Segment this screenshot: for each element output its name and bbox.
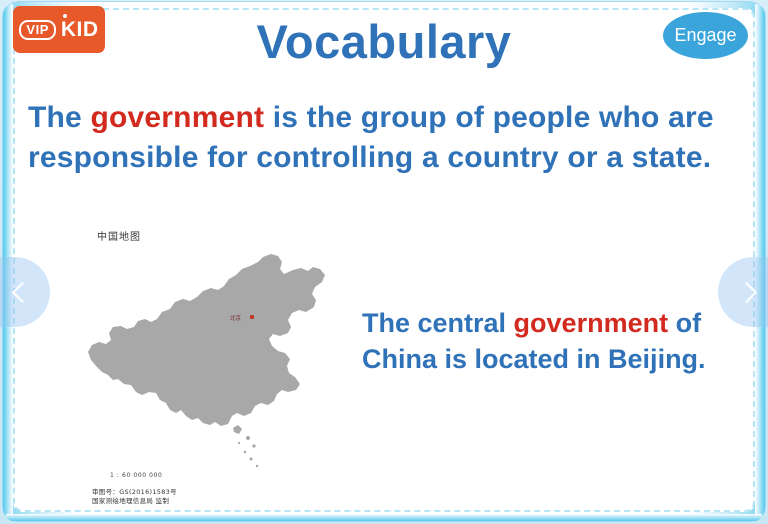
- definition-part-1: The: [28, 101, 90, 134]
- vocabulary-definition: The government is the group of people wh…: [28, 98, 738, 178]
- china-statement: The central government of China is locat…: [362, 305, 722, 377]
- map-credit-line-2: 国家测绘地理信息局 监制: [92, 497, 177, 506]
- chevron-right-icon: [735, 281, 756, 302]
- statement-keyword: government: [514, 308, 669, 338]
- page-title: Vocabulary: [0, 14, 768, 69]
- china-map-graphic: [82, 240, 344, 470]
- vipkid-logo: VIP KID: [13, 6, 105, 53]
- definition-keyword: government: [90, 101, 264, 134]
- chevron-left-icon: [11, 281, 32, 302]
- engage-badge[interactable]: Engage: [663, 12, 748, 59]
- logo-kid-text: KID: [59, 19, 99, 40]
- logo-kid-label: KID: [61, 18, 99, 41]
- engage-badge-label: Engage: [674, 25, 736, 46]
- logo-person-dot-icon: [63, 14, 67, 18]
- map-capital-marker-icon: [250, 315, 254, 319]
- statement-part-1: The central: [362, 308, 514, 338]
- map-credit-line-1: 审图号：GS(2016)1583号: [92, 488, 177, 497]
- frame-bottom-edge: [6, 514, 762, 521]
- map-capital-label: 北京: [230, 314, 241, 322]
- map-scale: 1 : 60 000 000: [110, 472, 162, 479]
- slide-root: VIP KID Vocabulary Engage The government…: [0, 0, 768, 524]
- china-map: 中国地图 北京 1 : 60 000 000 审图号：GS(2016)1583号…: [82, 222, 344, 512]
- logo-vip-text: VIP: [19, 20, 55, 40]
- map-credit: 审图号：GS(2016)1583号 国家测绘地理信息局 监制: [92, 488, 177, 506]
